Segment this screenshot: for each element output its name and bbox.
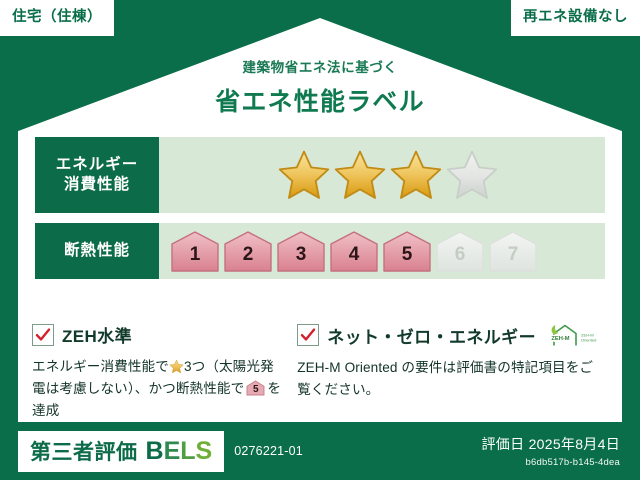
footer-bar: 第三者評価 BELS 0276221-01 評価日 2025年8月4日 b6db… xyxy=(0,422,640,480)
energy-performance-value xyxy=(159,137,605,213)
criteria-section: ZEH水準 エネルギー消費性能で 3つ（太陽光発電は考慮しない）、かつ断熱性能で… xyxy=(32,322,614,422)
energy-label-root: 住宅（住棟） 再エネ設備なし 建築物省エネ法に基づく 省エネ性能ラベル エネルギ… xyxy=(0,0,640,480)
insulation-grade-scale: 1234567 xyxy=(169,229,539,273)
evaluation-hash: b6db517b-b145-4dea xyxy=(481,457,620,468)
nze-criterion-title: ネット・ゼロ・エネルギー xyxy=(327,323,536,348)
insulation-label-text: 断熱性能 xyxy=(64,241,130,261)
performance-rows: エネルギー 消費性能 断熱性能 1234567 xyxy=(35,137,605,289)
zeh-criterion-body: エネルギー消費性能で 3つ（太陽光発電は考慮しない）、かつ断熱性能で 5 を達成 xyxy=(32,356,283,422)
bels-logo: BELS xyxy=(146,437,213,466)
evaluation-date: 評価日 2025年8月4日 xyxy=(481,434,620,454)
insulation-grade-chip: 2 xyxy=(222,229,274,273)
bels-letter-b: B xyxy=(146,437,164,465)
insulation-grade-value: 2 xyxy=(243,245,254,273)
bels-certificate-number: 0276221-01 xyxy=(234,444,303,458)
insulation-grade-value: 3 xyxy=(296,245,307,273)
energy-performance-row: エネルギー 消費性能 xyxy=(35,137,605,213)
page-title: 省エネ性能ラベル xyxy=(0,82,640,118)
insulation-performance-row: 断熱性能 1234567 xyxy=(35,223,605,279)
insulation-grade-value: 1 xyxy=(190,245,201,273)
star-icon-empty xyxy=(445,148,499,202)
insulation-grade-chip: 5 xyxy=(381,229,433,273)
nze-checkbox[interactable] xyxy=(297,324,319,346)
third-party-evaluation-label: 第三者評価 xyxy=(30,436,138,466)
star-icon-filled xyxy=(389,148,443,202)
svg-text:ZEH-M: ZEH-M xyxy=(581,333,594,338)
check-icon xyxy=(35,327,51,343)
star-icon-filled xyxy=(333,148,387,202)
svg-text:Oriented: Oriented xyxy=(581,338,596,343)
zeh-text-part-1: エネルギー消費性能で xyxy=(32,359,169,374)
check-icon xyxy=(300,327,316,343)
bels-letter-s: S xyxy=(196,437,213,465)
zeh-criterion-title: ZEH水準 xyxy=(62,322,132,347)
bels-letter-l: L xyxy=(180,437,195,465)
insulation-grade-chip: 6 xyxy=(434,229,486,273)
insulation-grade-value: 6 xyxy=(455,245,466,273)
star-icon-filled xyxy=(277,148,331,202)
insulation-grade-value: 4 xyxy=(349,245,360,273)
energy-label-line-1: エネルギー xyxy=(56,155,139,175)
insulation-grade-chip: 7 xyxy=(487,229,539,273)
energy-label-line-2: 消費性能 xyxy=(64,175,130,195)
star-rating xyxy=(277,148,499,202)
zeh-checkbox[interactable] xyxy=(32,324,54,346)
insulation-grade-chip: 4 xyxy=(328,229,380,273)
insulation-grade-chip: 1 xyxy=(169,229,221,273)
bels-letter-e: E xyxy=(164,437,181,465)
insulation-grade-value: 5 xyxy=(402,245,413,273)
zeh-criterion: ZEH水準 エネルギー消費性能で 3つ（太陽光発電は考慮しない）、かつ断熱性能で… xyxy=(32,322,297,422)
star-icon-inline xyxy=(169,359,184,374)
zeh-m-oriented-icon: ZEH-M ZEH-M Oriented xyxy=(548,322,600,348)
insulation-grade-badge-value: 5 xyxy=(246,385,265,395)
nze-criterion-header: ネット・ゼロ・エネルギー ZEH-M ZEH-M Oriented xyxy=(297,322,600,348)
renewable-energy-tag: 再エネ設備なし xyxy=(511,0,640,36)
zeh-criterion-header: ZEH水準 xyxy=(32,322,283,347)
zeh-m-logo: ZEH-M ZEH-M Oriented xyxy=(548,322,600,348)
bels-plate: 第三者評価 BELS xyxy=(18,431,224,472)
label-title-block: 建築物省エネ法に基づく 省エネ性能ラベル xyxy=(0,56,640,118)
svg-text:ZEH-M: ZEH-M xyxy=(551,336,569,342)
nze-criterion: ネット・ゼロ・エネルギー ZEH-M ZEH-M Oriented ZEH-M … xyxy=(297,322,614,422)
building-type-tag: 住宅（住棟） xyxy=(0,0,114,36)
insulation-performance-value: 1234567 xyxy=(159,223,605,279)
insulation-performance-label: 断熱性能 xyxy=(35,223,159,279)
energy-performance-label: エネルギー 消費性能 xyxy=(35,137,159,213)
evaluation-info: 評価日 2025年8月4日 b6db517b-b145-4dea xyxy=(481,434,620,468)
insulation-grade-chip: 3 xyxy=(275,229,327,273)
title-subtitle: 建築物省エネ法に基づく xyxy=(0,56,640,76)
nze-criterion-body: ZEH-M Oriented の要件は評価書の特記項目をご覧ください。 xyxy=(297,357,600,401)
insulation-grade-value: 7 xyxy=(508,245,519,273)
insulation-grade-badge: 5 xyxy=(246,380,265,396)
